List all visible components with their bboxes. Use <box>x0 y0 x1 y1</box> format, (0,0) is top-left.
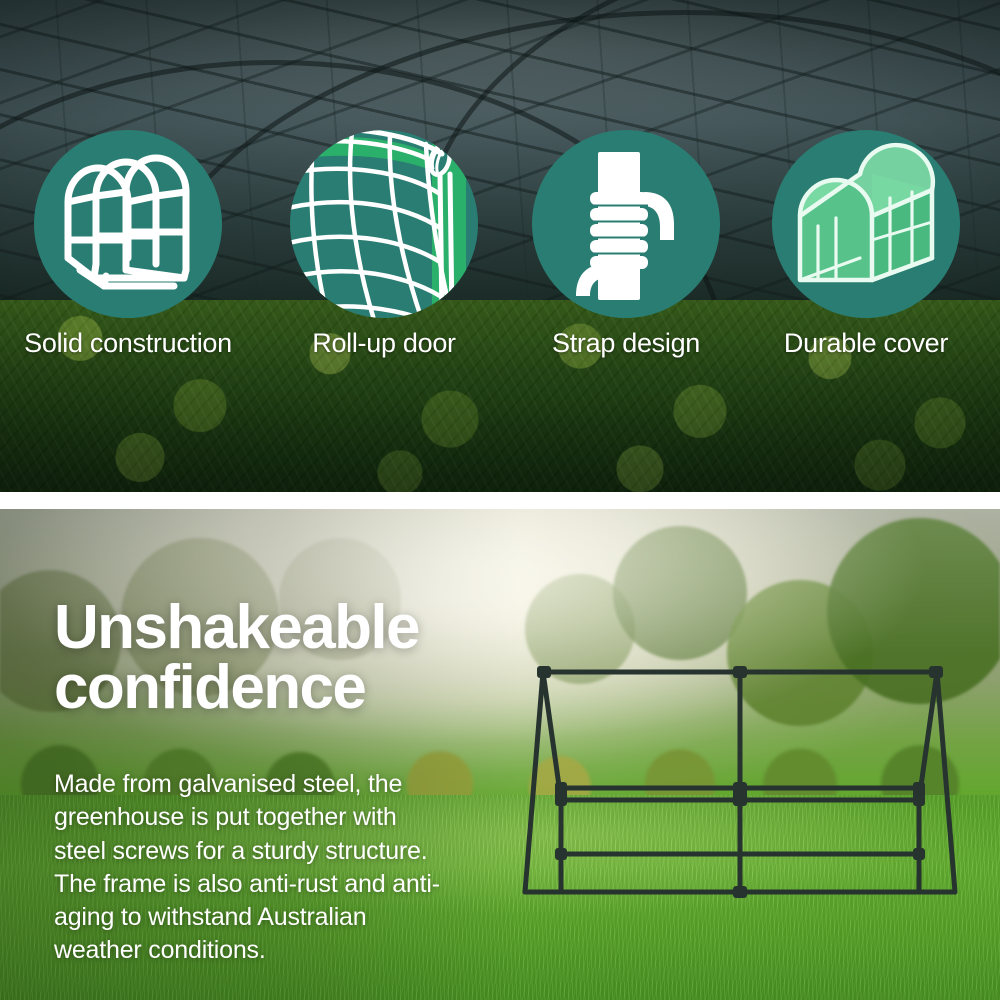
feature-item-roll-up-door: Roll-up door <box>290 130 478 318</box>
frame-illustration <box>505 640 975 902</box>
feature-icon-circle <box>532 130 720 318</box>
feature-icon-circle <box>290 130 478 318</box>
feature-item-solid-construction: Solid construction <box>34 130 222 318</box>
feature-label: Solid construction <box>0 328 262 359</box>
headline-line-2: confidence <box>54 658 524 718</box>
product-marketing-image: Solid construction <box>0 0 1000 1000</box>
feature-label: Roll-up door <box>260 328 508 359</box>
headline-line-1: Unshakeable <box>54 593 419 662</box>
greenhouse-frame-icon <box>34 130 222 318</box>
page-title: Unshakeable confidence <box>54 598 524 718</box>
strap-on-pole-icon <box>532 130 720 318</box>
feature-label: Durable cover <box>737 328 995 359</box>
feature-item-durable-cover: Durable cover <box>772 130 960 318</box>
panel-divider <box>0 492 1000 509</box>
features-panel: Solid construction <box>0 0 1000 492</box>
feature-icon-circle <box>34 130 222 318</box>
feature-icon-circle <box>772 130 960 318</box>
feature-row: Solid construction <box>0 0 1000 492</box>
feature-label: Strap design <box>504 328 748 359</box>
description-text: Made from galvanised steel, the greenhou… <box>54 768 454 968</box>
galvanised-steel-greenhouse-frame <box>505 640 975 902</box>
feature-item-strap-design: Strap design <box>532 130 720 318</box>
roll-up-door-icon <box>290 130 478 318</box>
covered-greenhouse-icon <box>772 130 960 318</box>
